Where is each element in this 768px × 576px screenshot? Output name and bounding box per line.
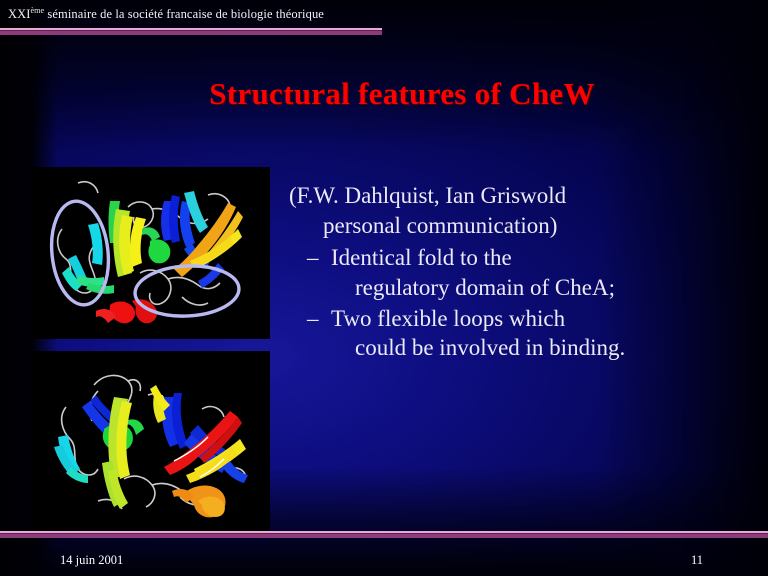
footer-date: 14 juin 2001	[60, 553, 123, 568]
bullet-dash-icon: –	[307, 304, 319, 334]
attribution-block: (F.W. Dahlquist, Ian Griswold personal c…	[275, 181, 745, 241]
header-remainder: séminaire de la société francaise de bio…	[44, 7, 324, 21]
bullet-1-line-1: Identical fold to the	[331, 245, 512, 270]
header-divider-rule	[0, 28, 382, 35]
attribution-line-2: personal communication)	[289, 211, 745, 241]
attribution-line-1: (F.W. Dahlquist, Ian Griswold	[289, 183, 566, 208]
figure-chew-ribbon-plain	[32, 351, 270, 534]
bullet-1-line-2: regulatory domain of CheA;	[331, 273, 745, 303]
footer-divider-rule	[0, 531, 768, 538]
figure-chew-ribbon-annotated	[32, 167, 270, 339]
protein-ribbon-svg-bottom	[32, 351, 270, 534]
bullet-item-1: – Identical fold to the regulatory domai…	[275, 243, 745, 303]
footer-page-number: 11	[691, 553, 703, 568]
header-ordinal-suffix: ème	[31, 6, 45, 15]
slide-header: XXIème séminaire de la société francaise…	[8, 6, 324, 22]
bullet-dash-icon: –	[307, 243, 319, 273]
rule-body-line	[0, 534, 768, 538]
slide-title: Structural features of CheW	[0, 76, 768, 112]
bullet-item-2: – Two flexible loops which could be invo…	[275, 304, 745, 364]
protein-ribbon-svg-top	[32, 167, 270, 339]
slide-body: (F.W. Dahlquist, Ian Griswold personal c…	[275, 181, 745, 363]
bullet-2-line-2: could be involved in binding.	[331, 333, 745, 363]
rule-body-line	[0, 31, 382, 35]
presentation-slide: XXIème séminaire de la société francaise…	[0, 0, 768, 576]
header-roman-numeral: XXI	[8, 7, 31, 21]
bullet-list: – Identical fold to the regulatory domai…	[275, 243, 745, 364]
bullet-2-line-1: Two flexible loops which	[331, 306, 565, 331]
